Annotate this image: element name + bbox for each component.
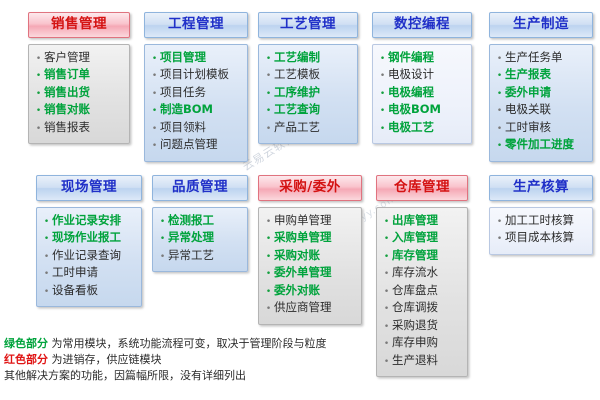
list-item-label: 生产报表: [505, 67, 551, 83]
list-item-label: 作业记录查询: [52, 248, 121, 264]
bullet-icon: •: [377, 87, 388, 103]
bullet-icon: •: [263, 87, 274, 103]
list-item[interactable]: •电极设计: [377, 67, 467, 85]
list-item-label: 设备看板: [52, 283, 98, 299]
module-header-engineering[interactable]: 工程管理: [144, 12, 248, 38]
list-item[interactable]: •作业记录查询: [41, 248, 137, 266]
list-item-label: 工时申请: [52, 265, 98, 281]
bullet-icon: •: [157, 215, 168, 231]
bullet-icon: •: [149, 69, 160, 85]
bullet-icon: •: [33, 122, 44, 138]
bullet-icon: •: [381, 285, 392, 301]
list-item-label: 电极设计: [388, 67, 434, 83]
bullet-icon: •: [263, 232, 274, 248]
module-cnc[interactable]: 数控编程 •钢件编程•电极设计•电极编程•电极BOM•电极工艺: [372, 12, 472, 144]
bullet-icon: •: [263, 104, 274, 120]
list-item[interactable]: •委外对账: [263, 283, 357, 301]
bullet-icon: •: [377, 69, 388, 85]
bullet-icon: •: [263, 52, 274, 68]
bullet-icon: •: [263, 250, 274, 266]
module-sales[interactable]: 销售管理 •客户管理•销售订单•销售出货•销售对账•销售报表: [28, 12, 130, 144]
list-item-label: 采购单管理: [274, 230, 332, 246]
bullet-icon: •: [381, 267, 392, 283]
list-item-label: 库存管理: [392, 248, 438, 264]
bullet-icon: •: [41, 267, 52, 283]
legend-text-green: 为常用模块，系统功能流程可变，取决于管理阶段与粒度: [52, 337, 327, 350]
list-item-label: 工艺编制: [274, 50, 320, 66]
list-item-label: 库存流水: [392, 265, 438, 281]
module-body-purchasing: •申购单管理•采购单管理•采购对账•委外单管理•委外对账•供应商管理: [258, 207, 362, 325]
list-item-label: 生产任务单: [505, 50, 563, 66]
legend-key-green: 绿色部分: [4, 337, 48, 350]
module-header-purchasing[interactable]: 采购/委外: [258, 175, 362, 201]
list-item[interactable]: •制造BOM: [149, 102, 243, 120]
list-item[interactable]: •工序维护: [263, 85, 353, 103]
list-item-label: 工序维护: [274, 85, 320, 101]
list-item[interactable]: •入库管理: [381, 230, 463, 248]
list-item[interactable]: •生产任务单: [494, 50, 588, 68]
list-item[interactable]: •出库管理: [381, 213, 463, 231]
list-item[interactable]: •问题点管理: [149, 137, 243, 155]
bullet-icon: •: [263, 122, 274, 138]
module-body-quality: •检测报工•异常处理•异常工艺: [152, 207, 248, 273]
bullet-icon: •: [263, 69, 274, 85]
list-item[interactable]: •加工工时核算: [494, 213, 588, 231]
module-body-manufacturing: •生产任务单•生产报表•委外申请•电极关联•工时审核•零件加工进度: [489, 44, 593, 162]
bullet-icon: •: [263, 285, 274, 301]
list-item[interactable]: •工艺编制: [263, 50, 353, 68]
bullet-icon: •: [33, 104, 44, 120]
module-header-cnc[interactable]: 数控编程: [372, 12, 472, 38]
list-item-label: 项目任务: [160, 85, 206, 101]
list-item[interactable]: •项目计划模板: [149, 67, 243, 85]
bullet-icon: •: [149, 122, 160, 138]
list-item-label: 异常处理: [168, 230, 214, 246]
legend-key-red: 红色部分: [4, 353, 48, 366]
list-item-label: 销售出货: [44, 85, 90, 101]
bullet-icon: •: [494, 69, 505, 85]
list-item-label: 客户管理: [44, 50, 90, 66]
list-item[interactable]: •项目领料: [149, 120, 243, 138]
list-item-label: 异常工艺: [168, 248, 214, 264]
list-item-label: 销售订单: [44, 67, 90, 83]
module-header-quality[interactable]: 品质管理: [152, 175, 248, 201]
module-header-manufacturing[interactable]: 生产制造: [489, 12, 593, 38]
list-item[interactable]: •钢件编程: [377, 50, 467, 68]
list-item-label: 电极BOM: [388, 102, 441, 118]
list-item-label: 作业记录安排: [52, 213, 121, 229]
bullet-icon: •: [263, 267, 274, 283]
bullet-icon: •: [381, 250, 392, 266]
bullet-icon: •: [494, 122, 505, 138]
list-item[interactable]: •销售对账: [33, 102, 125, 120]
module-body-sales: •客户管理•销售订单•销售出货•销售对账•销售报表: [28, 44, 130, 145]
list-item-label: 工艺查询: [274, 102, 320, 118]
bullet-icon: •: [494, 139, 505, 155]
bullet-icon: •: [149, 87, 160, 103]
list-item[interactable]: •销售订单: [33, 67, 125, 85]
list-item[interactable]: •委外申请: [494, 85, 588, 103]
module-body-cnc: •钢件编程•电极设计•电极编程•电极BOM•电极工艺: [372, 44, 472, 145]
list-item[interactable]: •供应商管理: [263, 300, 357, 318]
list-item[interactable]: •委外单管理: [263, 265, 357, 283]
list-item[interactable]: •电极编程: [377, 85, 467, 103]
legend-row-red: 红色部分 为进销存，供应链模块: [4, 352, 424, 368]
list-item[interactable]: •生产报表: [494, 67, 588, 85]
module-body-process: •工艺编制•工艺模板•工序维护•工艺查询•产品工艺: [258, 44, 358, 145]
list-item[interactable]: •电极关联: [494, 102, 588, 120]
list-item[interactable]: •现场作业报工: [41, 230, 137, 248]
list-item[interactable]: •异常处理: [157, 230, 243, 248]
list-item[interactable]: •项目管理: [149, 50, 243, 68]
list-item-label: 委外申请: [505, 85, 551, 101]
list-item[interactable]: •作业记录安排: [41, 213, 137, 231]
list-item-label: 加工工时核算: [505, 213, 574, 229]
bullet-icon: •: [381, 215, 392, 231]
bullet-icon: •: [263, 215, 274, 231]
module-header-process[interactable]: 工艺管理: [258, 12, 358, 38]
list-item[interactable]: •仓库盘点: [381, 283, 463, 301]
bullet-icon: •: [41, 232, 52, 248]
list-item-label: 出库管理: [392, 213, 438, 229]
list-item-label: 项目成本核算: [505, 230, 574, 246]
list-item[interactable]: •项目成本核算: [494, 230, 588, 248]
list-item[interactable]: •采购对账: [263, 248, 357, 266]
list-item-label: 销售报表: [44, 120, 90, 136]
legend-row-note: 其他解决方案的功能，因篇幅所限，没有详细列出: [4, 368, 424, 384]
bullet-icon: •: [377, 52, 388, 68]
list-item[interactable]: •销售出货: [33, 85, 125, 103]
bullet-icon: •: [263, 302, 274, 318]
bullet-icon: •: [377, 104, 388, 120]
list-item-label: 工艺模板: [274, 67, 320, 83]
module-engineering[interactable]: 工程管理 •项目管理•项目计划模板•项目任务•制造BOM•项目领料•问题点管理: [144, 12, 248, 162]
list-item-label: 电极工艺: [388, 120, 434, 136]
module-purchasing[interactable]: 采购/委外 •申购单管理•采购单管理•采购对账•委外单管理•委外对账•供应商管理: [258, 175, 362, 325]
bullet-icon: •: [157, 232, 168, 248]
list-item[interactable]: •电极工艺: [377, 120, 467, 138]
bullet-icon: •: [494, 215, 505, 231]
list-item-label: 项目领料: [160, 120, 206, 136]
module-header-costing[interactable]: 生产核算: [489, 175, 593, 201]
bullet-icon: •: [494, 232, 505, 248]
legend-row-green: 绿色部分 为常用模块，系统功能流程可变，取决于管理阶段与粒度: [4, 336, 424, 352]
bullet-icon: •: [494, 104, 505, 120]
module-manufacturing[interactable]: 生产制造 •生产任务单•生产报表•委外申请•电极关联•工时审核•零件加工进度: [489, 12, 593, 162]
module-header-sales[interactable]: 销售管理: [28, 12, 130, 38]
module-map-board: 云易云软件yyy.com 云易云软件yyy.com 销售管理 •客户管理•销售订…: [0, 0, 600, 400]
bullet-icon: •: [41, 285, 52, 301]
list-item[interactable]: •工时审核: [494, 120, 588, 138]
bullet-icon: •: [149, 52, 160, 68]
list-item-label: 问题点管理: [160, 137, 218, 153]
module-header-shopfloor[interactable]: 现场管理: [36, 175, 142, 201]
module-process[interactable]: 工艺管理 •工艺编制•工艺模板•工序维护•工艺查询•产品工艺: [258, 12, 358, 144]
list-item-label: 检测报工: [168, 213, 214, 229]
list-item[interactable]: •库存管理: [381, 248, 463, 266]
list-item[interactable]: •工艺查询: [263, 102, 353, 120]
list-item[interactable]: •电极BOM: [377, 102, 467, 120]
legend-text-red: 为进销存，供应链模块: [52, 353, 162, 366]
list-item[interactable]: •客户管理: [33, 50, 125, 68]
list-item[interactable]: •零件加工进度: [494, 137, 588, 155]
list-item-label: 销售对账: [44, 102, 90, 118]
list-item-label: 采购对账: [274, 248, 320, 264]
list-item[interactable]: •采购退货: [381, 318, 463, 336]
list-item-label: 产品工艺: [274, 120, 320, 136]
list-item-label: 项目计划模板: [160, 67, 229, 83]
list-item-label: 供应商管理: [274, 300, 332, 316]
list-item[interactable]: •仓库调拨: [381, 300, 463, 318]
list-item-label: 委外单管理: [274, 265, 332, 281]
bullet-icon: •: [157, 250, 168, 266]
bullet-icon: •: [381, 302, 392, 318]
bullet-icon: •: [33, 52, 44, 68]
list-item[interactable]: •申购单管理: [263, 213, 357, 231]
list-item[interactable]: •产品工艺: [263, 120, 353, 138]
list-item-label: 仓库盘点: [392, 283, 438, 299]
module-shopfloor[interactable]: 现场管理 •作业记录安排•现场作业报工•作业记录查询•工时申请•设备看板: [36, 175, 142, 307]
list-item[interactable]: •工艺模板: [263, 67, 353, 85]
legend: 绿色部分 为常用模块，系统功能流程可变，取决于管理阶段与粒度 红色部分 为进销存…: [4, 336, 424, 384]
list-item-label: 项目管理: [160, 50, 206, 66]
list-item[interactable]: •采购单管理: [263, 230, 357, 248]
bullet-icon: •: [149, 139, 160, 155]
list-item-label: 电极关联: [505, 102, 551, 118]
list-item-label: 仓库调拨: [392, 300, 438, 316]
list-item-label: 电极编程: [388, 85, 434, 101]
module-header-warehouse[interactable]: 仓库管理: [376, 175, 468, 201]
list-item[interactable]: •异常工艺: [157, 248, 243, 266]
list-item[interactable]: •设备看板: [41, 283, 137, 301]
bullet-icon: •: [149, 104, 160, 120]
list-item-label: 申购单管理: [274, 213, 332, 229]
bullet-icon: •: [33, 69, 44, 85]
module-body-engineering: •项目管理•项目计划模板•项目任务•制造BOM•项目领料•问题点管理: [144, 44, 248, 162]
list-item-label: 工时审核: [505, 120, 551, 136]
bullet-icon: •: [381, 232, 392, 248]
list-item-label: 零件加工进度: [505, 137, 574, 153]
bullet-icon: •: [41, 250, 52, 266]
list-item[interactable]: •工时申请: [41, 265, 137, 283]
list-item[interactable]: •销售报表: [33, 120, 125, 138]
module-body-shopfloor: •作业记录安排•现场作业报工•作业记录查询•工时申请•设备看板: [36, 207, 142, 308]
list-item-label: 制造BOM: [160, 102, 213, 118]
bullet-icon: •: [494, 52, 505, 68]
bullet-icon: •: [377, 122, 388, 138]
list-item-label: 钢件编程: [388, 50, 434, 66]
list-item[interactable]: •检测报工: [157, 213, 243, 231]
list-item-label: 委外对账: [274, 283, 320, 299]
list-item[interactable]: •库存流水: [381, 265, 463, 283]
list-item-label: 采购退货: [392, 318, 438, 334]
module-costing[interactable]: 生产核算 •加工工时核算•项目成本核算: [489, 175, 593, 255]
module-body-costing: •加工工时核算•项目成本核算: [489, 207, 593, 255]
module-quality[interactable]: 品质管理 •检测报工•异常处理•异常工艺: [152, 175, 248, 272]
bullet-icon: •: [494, 87, 505, 103]
bullet-icon: •: [33, 87, 44, 103]
bullet-icon: •: [41, 215, 52, 231]
list-item-label: 入库管理: [392, 230, 438, 246]
bullet-icon: •: [381, 320, 392, 336]
list-item[interactable]: •项目任务: [149, 85, 243, 103]
list-item-label: 现场作业报工: [52, 230, 121, 246]
